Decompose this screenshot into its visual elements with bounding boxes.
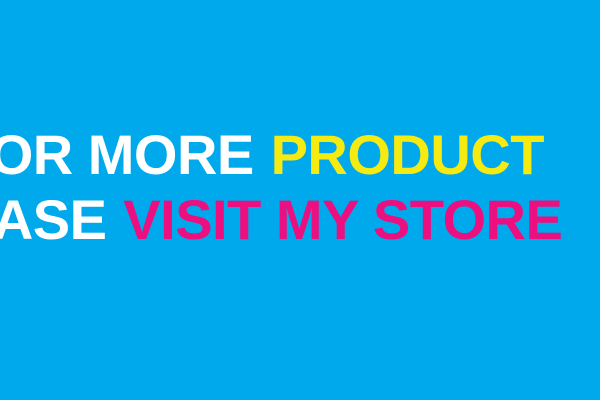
headline-line-1-accent-text: PRODUCT <box>271 123 544 186</box>
promo-banner: FOR MOREPRODUCT EASEVISIT MY STORE <box>0 0 600 400</box>
headline-line-1: FOR MOREPRODUCT <box>0 122 600 187</box>
headline-line-2-white-text: EASE <box>0 188 107 251</box>
headline-block: FOR MOREPRODUCT EASEVISIT MY STORE <box>0 122 600 252</box>
headline-line-2: EASEVISIT MY STORE <box>0 187 600 252</box>
headline-line-1-white-text: FOR MORE <box>0 123 254 186</box>
headline-line-2-accent-text: VISIT MY STORE <box>123 188 562 251</box>
